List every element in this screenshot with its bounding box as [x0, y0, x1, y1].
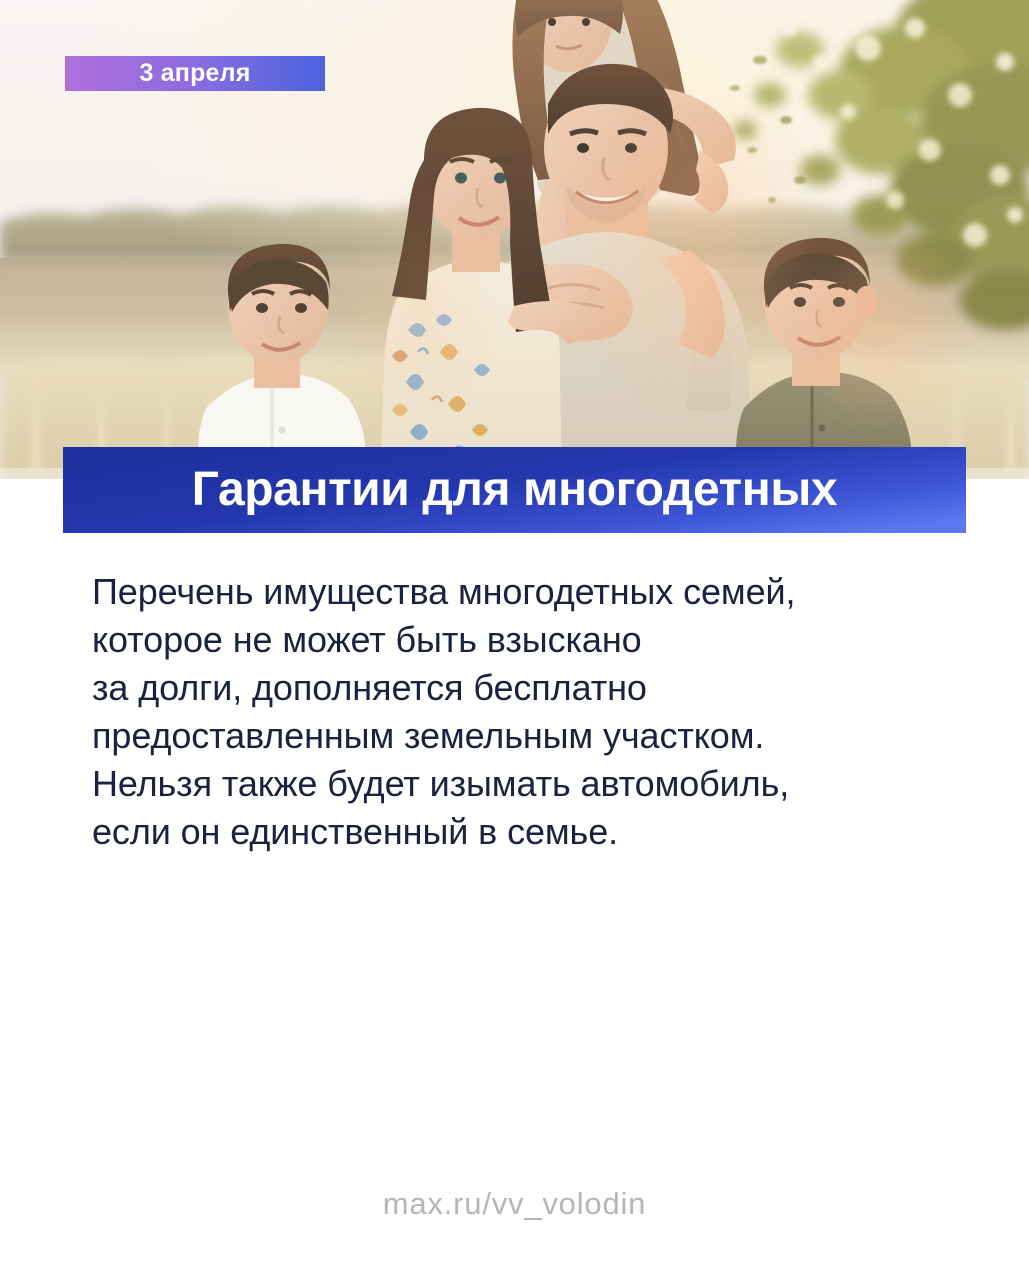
- title-banner: Гарантии для многодетных: [63, 447, 966, 533]
- title-banner-label: Гарантии для многодетных: [192, 466, 837, 514]
- body-line-2: которое не может быть взыскано: [92, 616, 972, 664]
- date-badge: 3 апреля: [65, 56, 325, 91]
- body-line-6: если он единственный в семье.: [92, 808, 972, 856]
- date-badge-label: 3 апреля: [139, 61, 250, 86]
- body-line-3: за долги, дополняется бесплатно: [92, 664, 972, 712]
- body-line-1: Перечень имущества многодетных семей,: [92, 568, 972, 616]
- body-line-4: предоставленным земельным участком.: [92, 712, 972, 760]
- body-line-5: Нельзя также будет изымать автомобиль,: [92, 760, 972, 808]
- post-body: Перечень имущества многодетных семей, ко…: [92, 568, 972, 856]
- footer-url[interactable]: max.ru/vv_volodin: [0, 1186, 1029, 1222]
